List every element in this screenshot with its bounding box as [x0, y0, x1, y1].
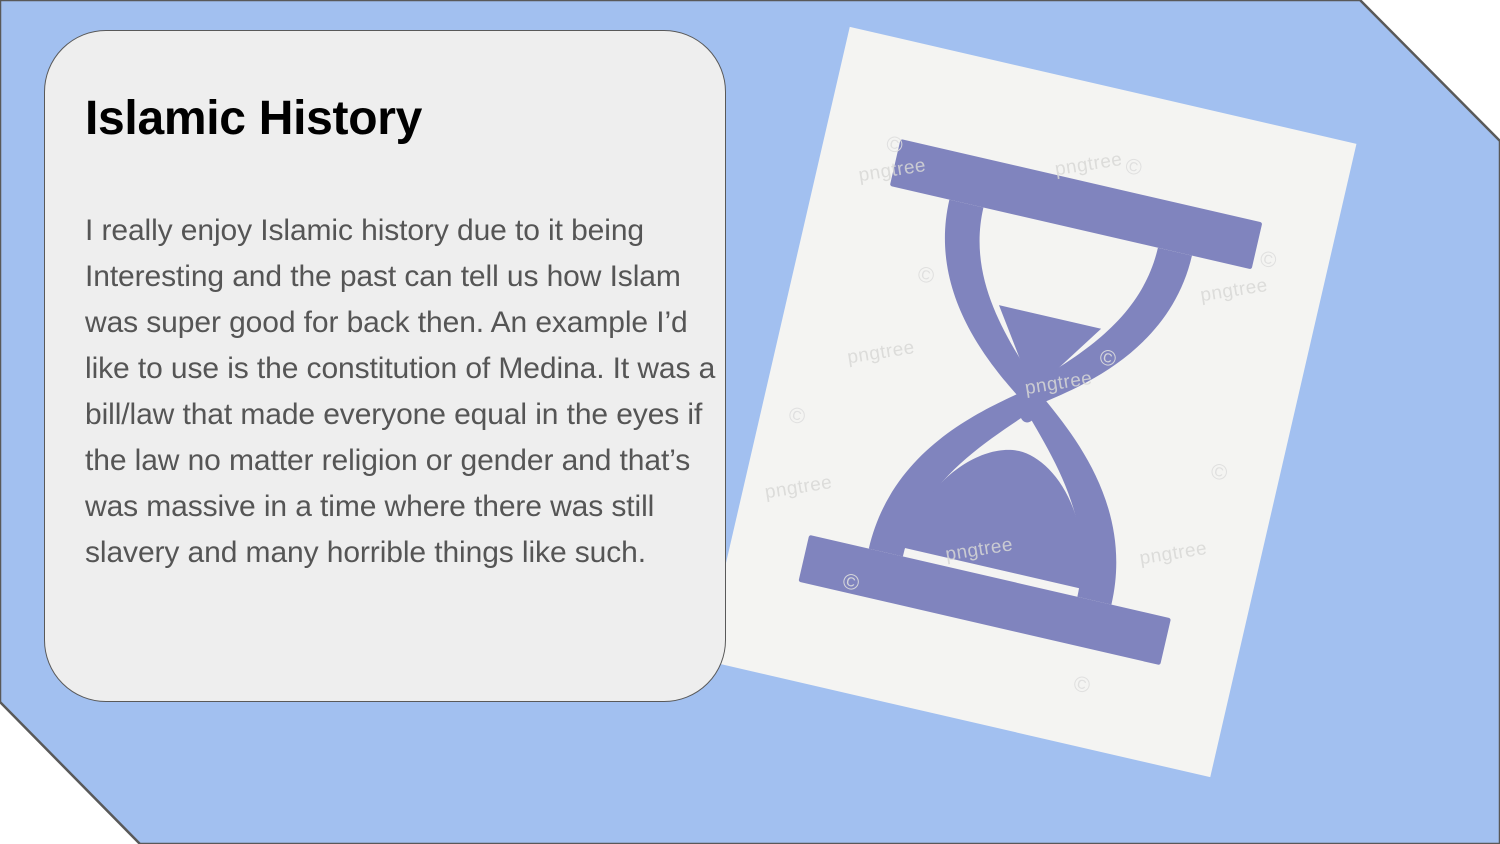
text-card: Islamic History I really enjoy Islamic h…: [44, 30, 726, 702]
page-title: Islamic History: [85, 95, 422, 143]
text-card-content: Islamic History I really enjoy Islamic h…: [65, 31, 705, 701]
body-paragraph: I really enjoy Islamic history due to it…: [85, 208, 725, 576]
slide-canvas: pngtree pngtree pngtree pngtree pngtree …: [0, 0, 1500, 844]
